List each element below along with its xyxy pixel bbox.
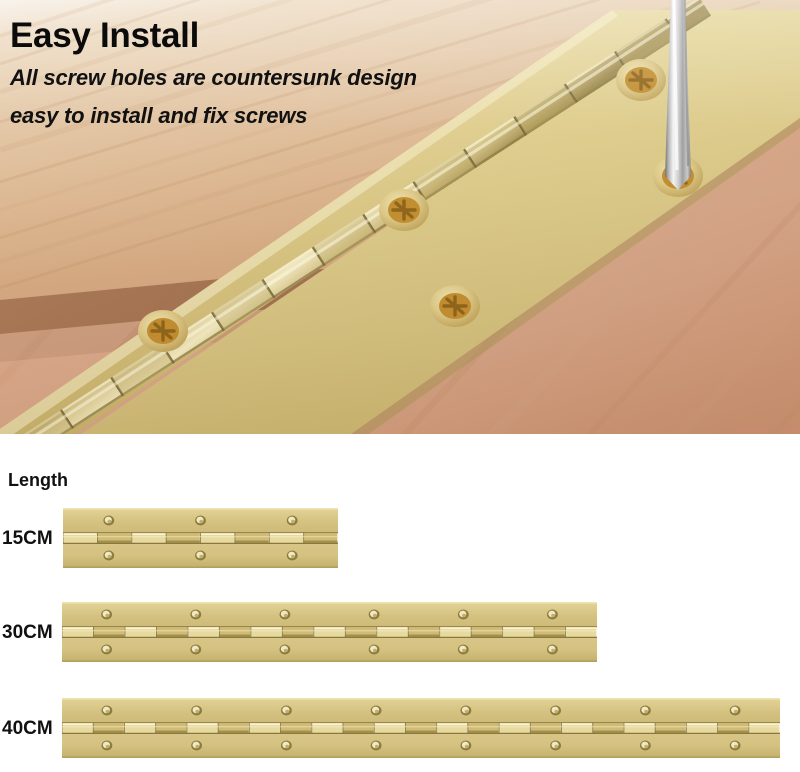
size-label-30cm: 30CM [2, 622, 53, 644]
product-infographic: Easy Install All screw holes are counter… [0, 0, 800, 772]
hinge-strip-30cm [62, 602, 597, 662]
hero-subtitle-line-1: All screw holes are countersunk design [10, 67, 570, 89]
hinge-graphic [62, 602, 597, 662]
size-row-40cm: 40CM [0, 698, 800, 758]
hinge-strip-15cm [63, 508, 338, 568]
hinge-graphic [62, 698, 780, 758]
size-label-40cm: 40CM [2, 718, 53, 740]
size-row-30cm: 30CM [0, 602, 800, 662]
hinge-strip-40cm [62, 698, 780, 758]
size-row-15cm: 15CM [0, 508, 800, 568]
hero-subtitle-line-2: easy to install and fix screws [10, 105, 570, 127]
hero-photo-panel: Easy Install All screw holes are counter… [0, 0, 800, 434]
length-heading: Length [8, 470, 68, 491]
hinge-graphic [63, 508, 338, 568]
size-label-15cm: 15CM [2, 528, 53, 550]
page-title: Easy Install [10, 18, 570, 55]
hero-text-block: Easy Install All screw holes are counter… [10, 18, 570, 127]
